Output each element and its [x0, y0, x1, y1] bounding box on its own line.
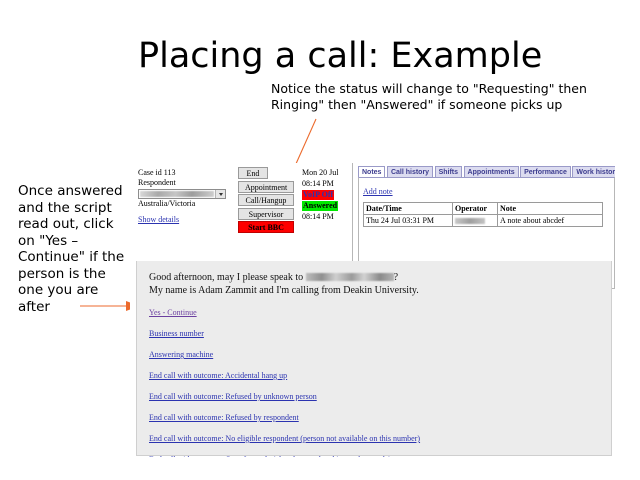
tab-notes[interactable]: Notes	[358, 166, 385, 177]
call-centre-app-window: Case id 113 Respondent Australia/Victori…	[130, 163, 615, 457]
timezone-label: Australia/Victoria	[138, 199, 234, 209]
call-hangup-button[interactable]: Call/Hangup	[238, 194, 294, 206]
appointment-button[interactable]: Appointment	[238, 181, 294, 193]
respondent-value-redacted	[140, 191, 214, 197]
outcome-choice-list: Yes - Continue Business number Answering…	[149, 308, 611, 457]
status-time-bottom: 08:14 PM	[302, 211, 350, 222]
table-row[interactable]: Thu 24 Jul 03:31 PM A note about abcdef	[364, 215, 603, 227]
tab-call-history[interactable]: Call history	[387, 166, 433, 177]
script-greeting-line: Good afternoon, may I please speak to ?	[149, 271, 611, 284]
call-status-panel: Mon 20 Jul 08:14 PM VoIP Off Answered 08…	[302, 167, 350, 222]
respondent-select[interactable]	[138, 189, 226, 199]
app-top-region: Case id 113 Respondent Australia/Victori…	[130, 163, 615, 254]
script-panel: Good afternoon, may I please speak to ? …	[136, 261, 612, 456]
start-bbc-button[interactable]: Start BBC	[238, 221, 294, 233]
column-header-operator: Operator	[453, 203, 498, 215]
choice-refused-by-respondent[interactable]: End call with outcome: Refused by respon…	[149, 413, 299, 423]
tab-appointments[interactable]: Appointments	[464, 166, 519, 177]
respondent-name-redacted	[306, 273, 394, 281]
tab-shifts[interactable]: Shifts	[435, 166, 462, 177]
choice-refused-by-unknown-person[interactable]: End call with outcome: Refused by unknow…	[149, 392, 317, 402]
cell-operator	[453, 215, 498, 227]
choice-no-eligible-respondent[interactable]: End call with outcome: No eligible respo…	[149, 434, 420, 444]
respondent-label: Respondent	[138, 178, 234, 188]
voip-status-badge: VoIP Off	[302, 190, 334, 200]
notes-table: Date/Time Operator Note Thu 24 Jul 03:31…	[363, 202, 603, 227]
script-introduction-line: My name is Adam Zammit and I'm calling f…	[149, 284, 611, 297]
case-panel: Case id 113 Respondent Australia/Victori…	[138, 168, 234, 227]
script-greeting-text: Good afternoon, may I please speak to	[149, 272, 306, 283]
show-details-link[interactable]: Show details	[138, 215, 179, 225]
cell-note: A note about abcdef	[498, 215, 603, 227]
supervisor-button[interactable]: Supervisor	[238, 208, 294, 220]
callout-status-note: Notice the status will change to "Reques…	[271, 81, 601, 112]
operator-value-redacted	[455, 218, 485, 224]
details-tabbar: Notes Call history Shifts Appointments P…	[358, 165, 615, 177]
case-id-label: Case id 113	[138, 168, 234, 178]
tab-performance[interactable]: Performance	[520, 166, 571, 177]
choice-accidental-hang-up[interactable]: End call with outcome: Accidental hang u…	[149, 371, 287, 381]
column-header-datetime: Date/Time	[364, 203, 453, 215]
call-action-buttons: End Appointment Call/Hangup Supervisor S…	[238, 167, 296, 235]
column-header-note: Note	[498, 203, 603, 215]
script-greeting-suffix: ?	[394, 272, 398, 283]
call-state-badge: Answered	[302, 201, 338, 211]
choice-yes-continue[interactable]: Yes - Continue	[149, 308, 197, 318]
end-button[interactable]: End	[238, 167, 268, 179]
chevron-down-icon[interactable]	[215, 190, 225, 198]
page-title: Placing a call: Example	[138, 36, 542, 76]
status-date: Mon 20 Jul	[302, 167, 350, 178]
choice-answering-machine[interactable]: Answering machine	[149, 350, 213, 360]
callout-instruction-note: Once answered and the script read out, c…	[18, 183, 133, 315]
choice-business-number[interactable]: Business number	[149, 329, 204, 339]
cell-datetime: Thu 24 Jul 03:31 PM	[364, 215, 453, 227]
table-header-row: Date/Time Operator Note	[364, 203, 603, 215]
status-time-top: 08:14 PM	[302, 178, 350, 189]
tab-work-history[interactable]: Work history	[572, 166, 615, 177]
choice-out-of-sample[interactable]: End call with outcome: Out of sample (al…	[149, 455, 391, 457]
add-note-link[interactable]: Add note	[363, 187, 393, 197]
